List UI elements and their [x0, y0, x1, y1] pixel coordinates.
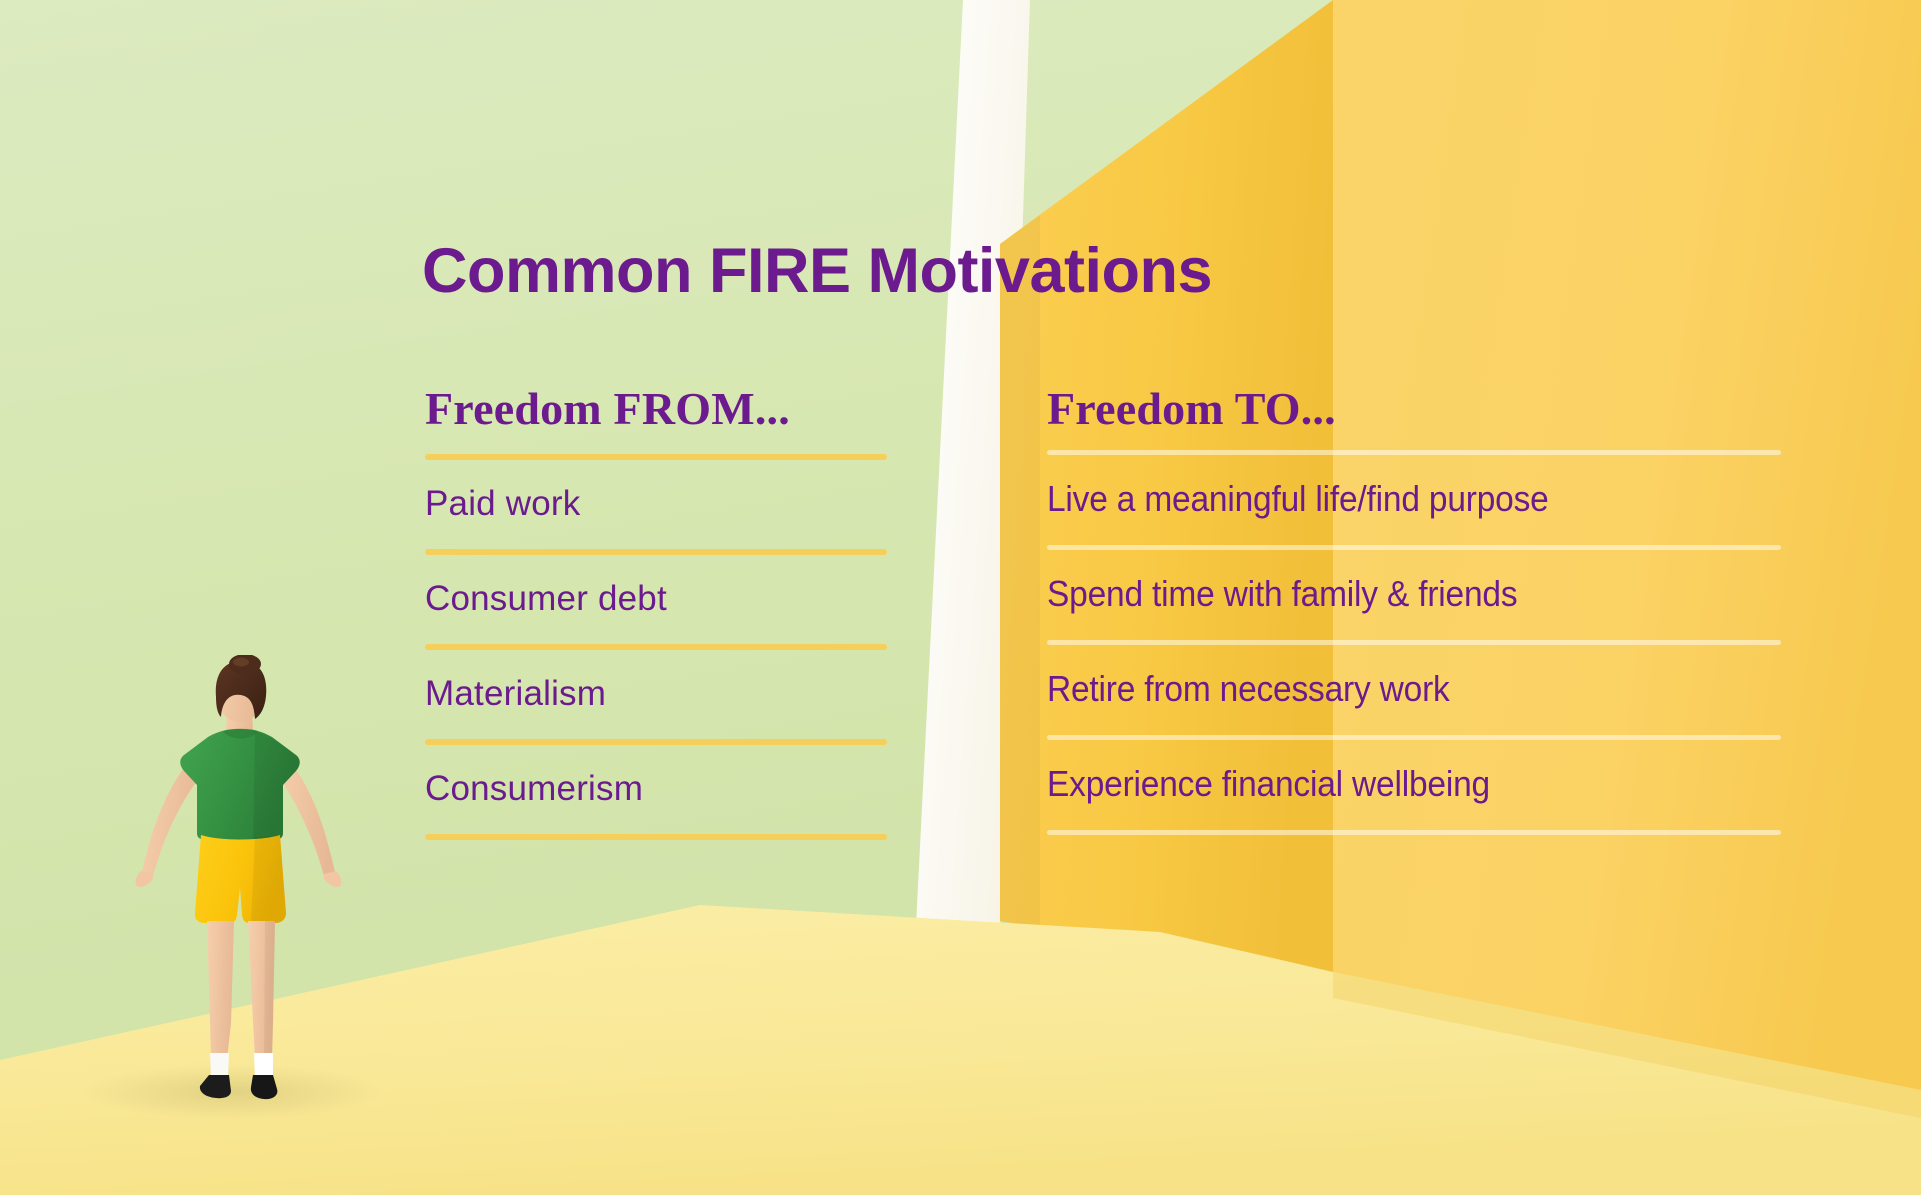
list-item: Materialism [425, 664, 895, 725]
slide-canvas: Common FIRE Motivations Freedom FROM... … [0, 0, 1921, 1195]
list-item: Retire from necessary work [1047, 659, 1735, 721]
list-item: Paid work [425, 474, 895, 535]
divider [425, 454, 887, 460]
page-title: Common FIRE Motivations [422, 238, 1212, 304]
freedom-from-list: Paid work Consumer debt Materialism Cons… [425, 474, 895, 840]
divider [1047, 830, 1781, 835]
freedom-to-list: Live a meaningful life/find purpose Spen… [1047, 469, 1787, 835]
list-item: Live a meaningful life/find purpose [1047, 469, 1735, 531]
list-item: Consumerism [425, 759, 895, 820]
list-item: Spend time with family & friends [1047, 564, 1735, 626]
divider [1047, 735, 1781, 740]
divider [1047, 545, 1781, 550]
divider [425, 834, 887, 840]
column-freedom-to: Freedom TO... Live a meaningful life/fin… [1047, 386, 1787, 849]
list-item: Consumer debt [425, 569, 895, 630]
list-item: Experience financial wellbeing [1047, 754, 1735, 816]
column-heading-freedom-from: Freedom FROM... [425, 386, 895, 440]
column-heading-freedom-to: Freedom TO... [1047, 386, 1787, 436]
divider [1047, 640, 1781, 645]
divider [425, 739, 887, 745]
divider [425, 549, 887, 555]
divider [425, 644, 887, 650]
column-freedom-from: Freedom FROM... Paid work Consumer debt … [425, 386, 895, 854]
slide-content: Common FIRE Motivations Freedom FROM... … [0, 0, 1921, 1195]
divider [1047, 450, 1781, 455]
